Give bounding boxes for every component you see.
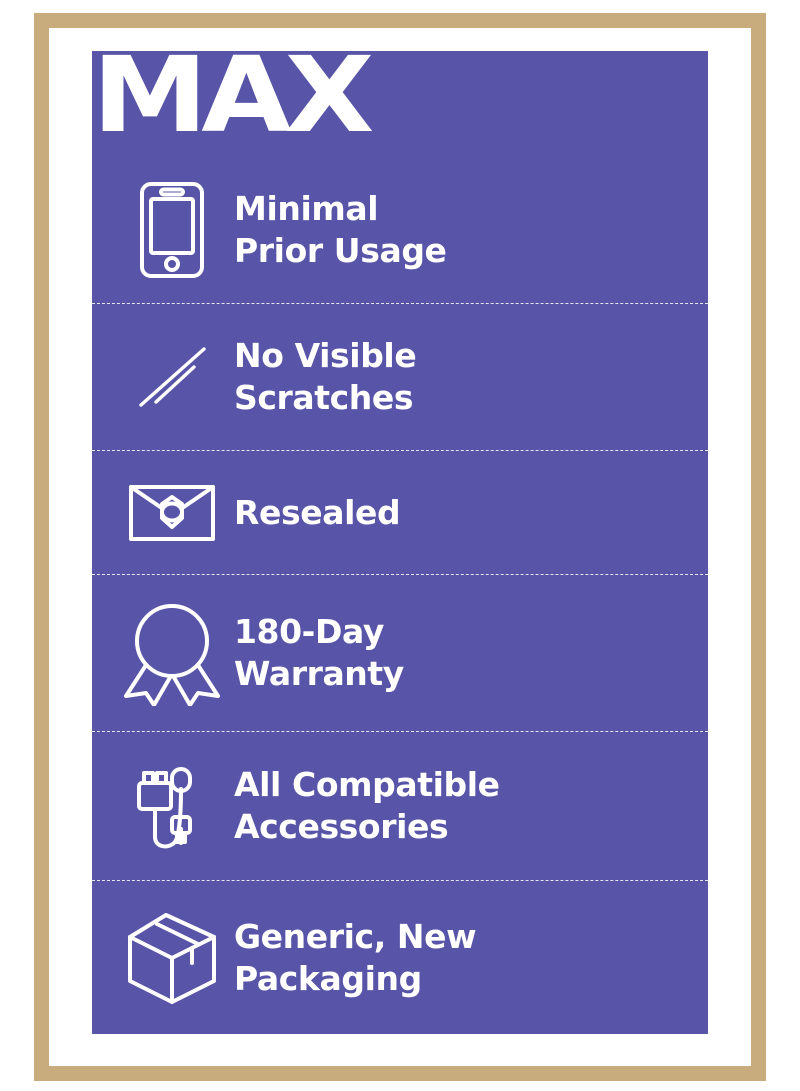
feature-list: Minimal Prior Usage No Visible Scratches (92, 157, 708, 1034)
feature-label: 180-Day Warranty (234, 611, 404, 694)
feature-row-accessories: All Compatible Accessories (92, 731, 708, 880)
usb-cable-icon (110, 759, 234, 853)
warranty-ribbon-icon (110, 600, 234, 706)
feature-label: All Compatible Accessories (234, 764, 500, 847)
feature-label: Generic, New Packaging (234, 916, 476, 999)
package-box-icon (110, 911, 234, 1005)
feature-row-resealed: Resealed (92, 450, 708, 574)
smartphone-icon (110, 181, 234, 279)
feature-row-warranty: 180-Day Warranty (92, 574, 708, 731)
feature-label: Resealed (234, 492, 400, 534)
feature-row-minimal-prior-usage: Minimal Prior Usage (92, 157, 708, 303)
purple-panel: MAX Minimal Prior Usage (92, 51, 708, 1034)
brand-title: MAX (92, 51, 368, 147)
sealed-envelope-icon (110, 482, 234, 544)
feature-row-no-visible-scratches: No Visible Scratches (92, 303, 708, 450)
feature-label: Minimal Prior Usage (234, 188, 447, 271)
feature-row-packaging: Generic, New Packaging (92, 880, 708, 1034)
poster: MAX Minimal Prior Usage (0, 0, 800, 1091)
scratch-lines-icon (110, 341, 234, 413)
feature-label: No Visible Scratches (234, 335, 416, 418)
